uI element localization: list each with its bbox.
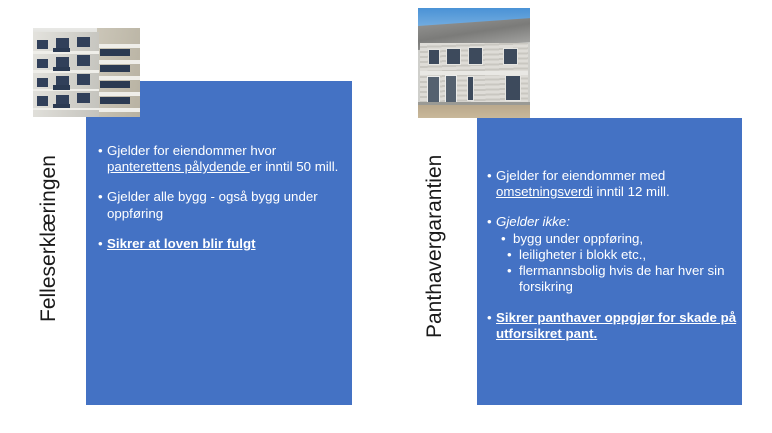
right-bullet-list: • Gjelder for eiendommer med omsetningsv… bbox=[487, 168, 739, 342]
bullet-spacer bbox=[98, 175, 346, 189]
house-window bbox=[446, 48, 461, 66]
house-image bbox=[418, 8, 530, 118]
apartment-building-image bbox=[33, 28, 140, 117]
bullet-segment-tail: inntil 12 mill. bbox=[593, 184, 670, 199]
bullet-marker: • bbox=[487, 310, 496, 326]
sub-bullet-item: • bygg under oppføring, bbox=[487, 231, 739, 247]
right-side-label: Panthavergarantien bbox=[424, 155, 445, 338]
bullet-text-italic: Gjelder ikke: bbox=[487, 214, 739, 230]
bullet-segment-underlined: panterettens pålydende bbox=[107, 159, 250, 174]
house-window bbox=[505, 75, 521, 101]
bullet-spacer bbox=[487, 296, 739, 310]
bullet-marker: • bbox=[487, 214, 496, 230]
bullet-text-emphasis: Sikrer at loven blir fulgt bbox=[98, 236, 346, 252]
bullet-marker: • bbox=[98, 236, 107, 252]
bullet-marker: • bbox=[487, 168, 496, 184]
bullet-segment-plain: Gjelder for eiendommer hvor bbox=[107, 143, 276, 158]
bullet-marker: • bbox=[98, 143, 107, 159]
house-window bbox=[468, 47, 483, 66]
bullet-text: Gjelder alle bygg - også bygg under oppf… bbox=[98, 189, 346, 221]
apartment-side-wall bbox=[97, 28, 140, 117]
bullet-spacer bbox=[487, 200, 739, 214]
bullet-item: • Sikrer panthaver oppgjør for skade på … bbox=[487, 310, 739, 342]
house-ground bbox=[418, 105, 530, 118]
bullet-spacer bbox=[98, 222, 346, 236]
slide-canvas: Felleserklæringen • Gjelder for eiendomm… bbox=[0, 0, 772, 433]
house-door bbox=[445, 75, 457, 103]
bullet-segment-underlined: omsetningsverdi bbox=[496, 184, 593, 199]
bullet-text: Gjelder for eiendommer med omsetningsver… bbox=[487, 168, 739, 200]
bullet-item: • Sikrer at loven blir fulgt bbox=[98, 236, 346, 252]
house-window bbox=[467, 76, 474, 101]
sub-bullet-text: bygg under oppføring, bbox=[503, 231, 739, 247]
left-bullet-list: • Gjelder for eiendommer hvor panterette… bbox=[98, 143, 346, 252]
sub-bullet-text: leiligheter i blokk etc., bbox=[509, 247, 739, 263]
bullet-segment-tail: er inntil 50 mill. bbox=[250, 159, 339, 174]
bullet-item: • Gjelder for eiendommer med omsetningsv… bbox=[487, 168, 739, 200]
sub-bullet-item: • flermannsbolig hvis de har hver sin fo… bbox=[487, 263, 739, 295]
house-window bbox=[428, 49, 440, 66]
bullet-marker: • bbox=[507, 263, 512, 279]
bullet-marker: • bbox=[98, 189, 107, 205]
bullet-segment-plain: Gjelder for eiendommer med bbox=[496, 168, 665, 183]
house-window bbox=[503, 48, 518, 66]
bullet-item: • Gjelder alle bygg - også bygg under op… bbox=[98, 189, 346, 221]
sub-bullet-item: • leiligheter i blokk etc., bbox=[487, 247, 739, 263]
bullet-text-emphasis: Sikrer panthaver oppgjør for skade på ut… bbox=[487, 310, 739, 342]
left-side-label: Felleserklæringen bbox=[38, 155, 59, 322]
bullet-marker: • bbox=[507, 247, 512, 263]
bullet-item: • Gjelder for eiendommer hvor panterette… bbox=[98, 143, 346, 175]
sub-bullet-text: flermannsbolig hvis de har hver sin fors… bbox=[509, 263, 739, 295]
bullet-text: Gjelder for eiendommer hvor panterettens… bbox=[98, 143, 346, 175]
bullet-item: • Gjelder ikke: bbox=[487, 214, 739, 230]
bullet-marker: • bbox=[501, 231, 506, 247]
apartment-facade bbox=[33, 32, 99, 117]
house-door bbox=[427, 76, 440, 102]
